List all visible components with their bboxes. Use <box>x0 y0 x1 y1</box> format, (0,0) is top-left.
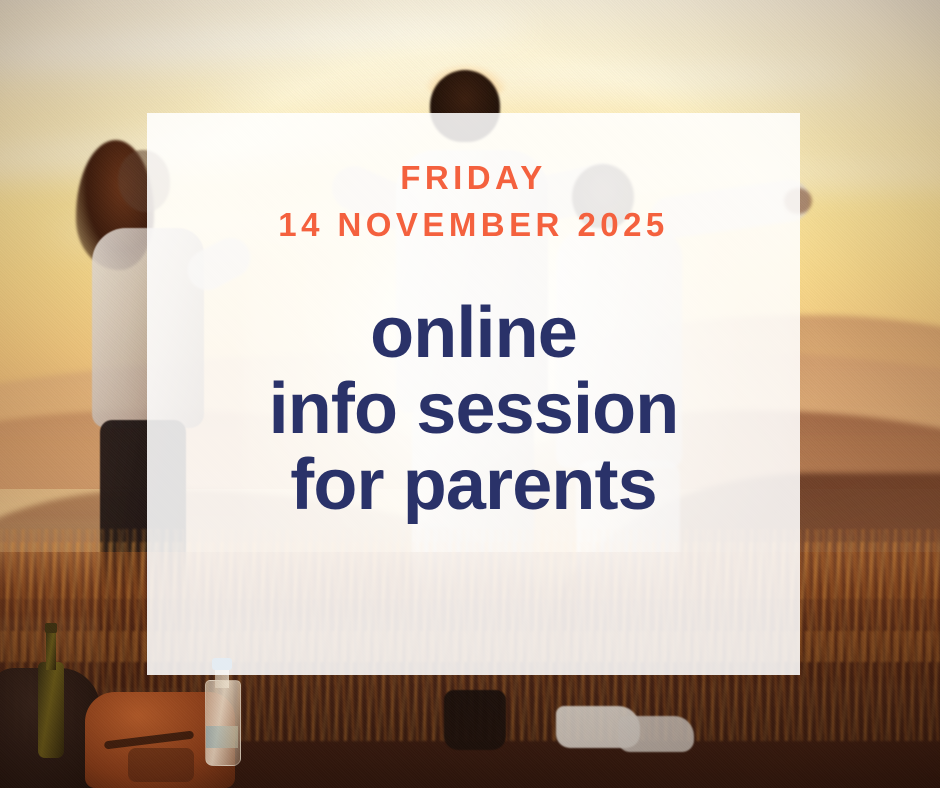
right-figure-shoe <box>618 716 694 752</box>
backpack-pocket <box>128 748 194 782</box>
headline-line-1: online <box>269 295 679 371</box>
poster-canvas: FRIDAY 14 NOVEMBER 2025 online info sess… <box>0 0 940 788</box>
headline-line-2: info session <box>269 371 679 447</box>
event-date-label: 14 NOVEMBER 2025 <box>278 202 668 249</box>
event-day-label: FRIDAY <box>400 159 547 196</box>
wine-bottle-cap <box>45 623 57 633</box>
text-card: FRIDAY 14 NOVEMBER 2025 online info sess… <box>147 113 800 675</box>
headline-line-3: for parents <box>269 447 679 523</box>
event-date: FRIDAY 14 NOVEMBER 2025 <box>278 155 668 249</box>
wine-bottle-neck <box>46 628 56 670</box>
water-bottle <box>205 680 241 766</box>
center-figure-boot <box>444 690 506 750</box>
wine-bottle <box>38 662 64 758</box>
water-bottle-label <box>206 726 238 748</box>
page-title: online info session for parents <box>269 295 679 524</box>
